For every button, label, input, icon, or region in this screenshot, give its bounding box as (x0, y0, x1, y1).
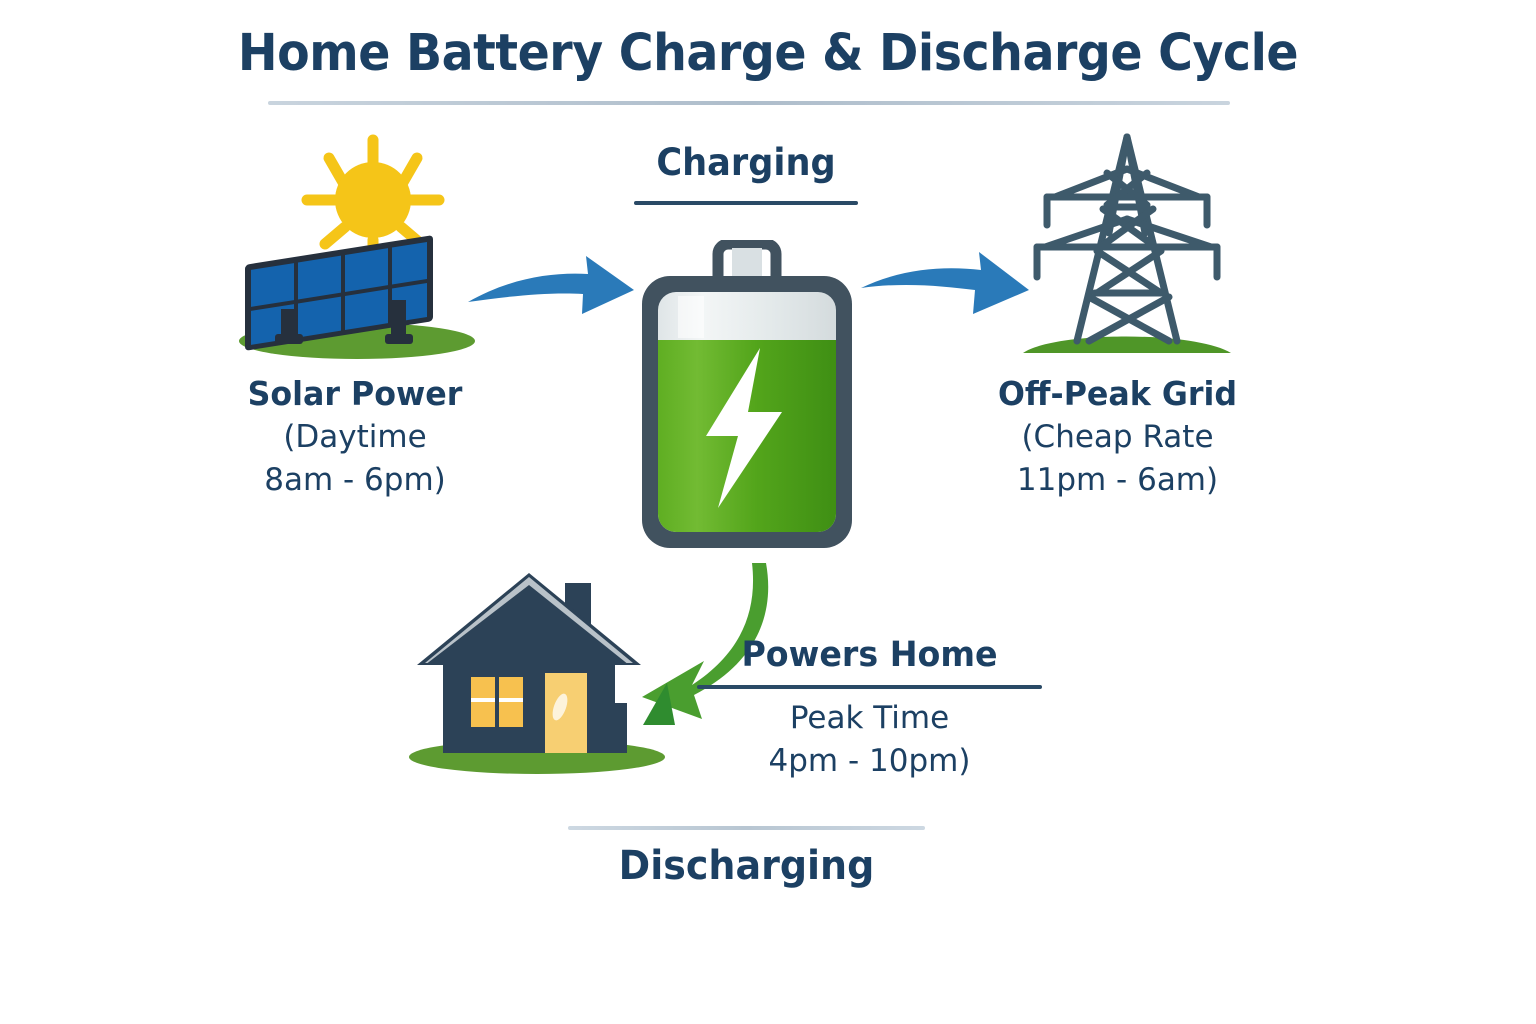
discharging-divider (568, 826, 925, 830)
peak-time-line-2: 4pm - 10pm) (769, 743, 971, 779)
powers-home-label: Powers Home (706, 635, 1034, 675)
charge-arrow-grid-icon (855, 248, 1035, 330)
solar-caption: Solar Power (Daytime 8am - 6pm) (215, 372, 495, 502)
solar-panel-icon (225, 128, 490, 360)
peak-time-line-1: Peak Time (790, 700, 949, 736)
title-divider (268, 101, 1230, 105)
powers-home-divider (697, 685, 1042, 689)
charging-divider (634, 201, 858, 205)
powers-home-subtext: Peak Time 4pm - 10pm) (697, 697, 1042, 783)
infographic-canvas: Home Battery Charge & Discharge Cycle Ch… (0, 0, 1536, 1024)
discharging-label: Discharging (577, 843, 916, 889)
grid-caption: Off-Peak Grid (Cheap Rate 11pm - 6am) (975, 372, 1260, 502)
solar-sub-2: 8am - 6pm) (215, 459, 495, 502)
grid-sub-1: (Cheap Rate (975, 416, 1260, 459)
grid-sub-2: 11pm - 6am) (975, 459, 1260, 502)
charge-arrow-solar-icon (462, 250, 642, 332)
page-title: Home Battery Charge & Discharge Cycle (54, 24, 1482, 83)
transmission-tower-icon (1015, 125, 1240, 357)
solar-sub-1: (Daytime (215, 416, 495, 459)
solar-label: Solar Power (221, 372, 490, 416)
house-icon (405, 555, 675, 780)
battery-charging-icon (632, 240, 862, 556)
grid-label: Off-Peak Grid (981, 372, 1255, 416)
charging-label: Charging (640, 141, 853, 184)
